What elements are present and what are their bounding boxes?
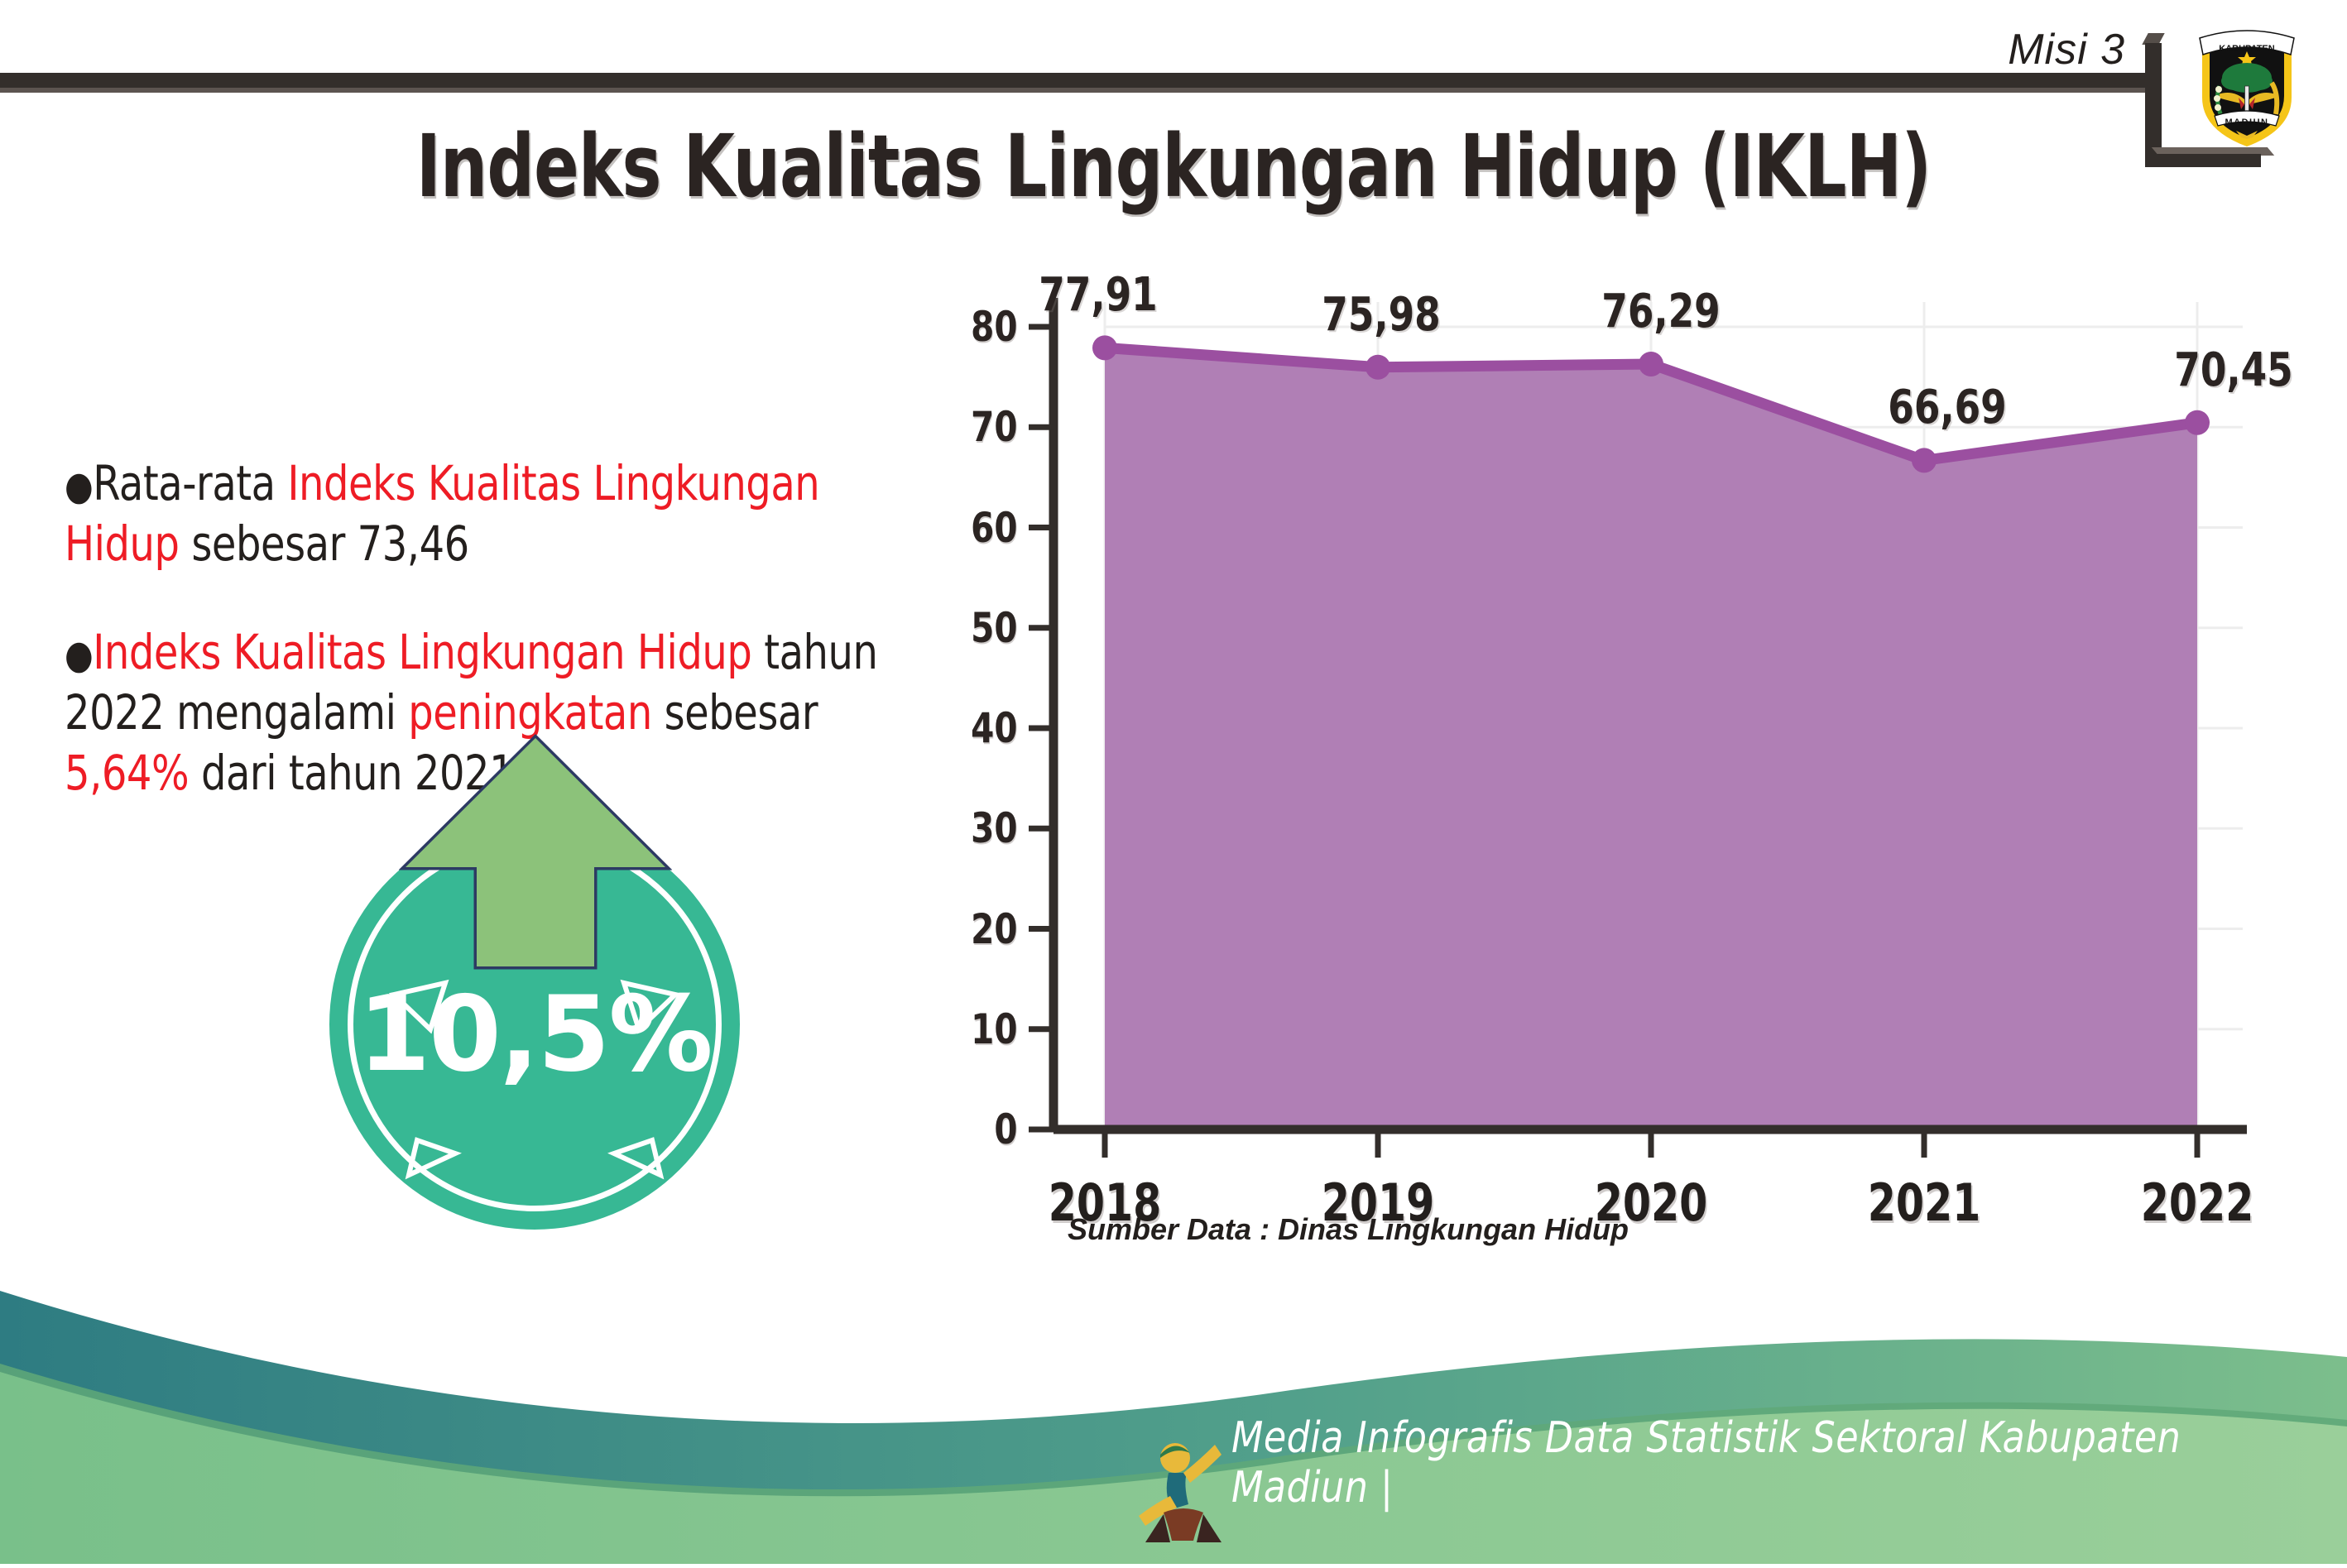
mission-label: Misi 3 — [2008, 25, 2125, 74]
chart-x-tick: 2021 — [1868, 1172, 1981, 1233]
chart-y-tick: 0 — [936, 1105, 1018, 1153]
chart-y-tick: 60 — [936, 504, 1018, 552]
highlight-2-seg-4: sebesar — [652, 684, 818, 741]
header-rule — [0, 73, 2160, 88]
highlight-2-seg-1: Indeks Kualitas Lingkungan Hidup — [93, 624, 751, 680]
chart-series-area — [1105, 348, 2197, 1129]
chart-data-label: 77,91 — [1039, 268, 1157, 322]
header-rule-shadow — [0, 88, 2160, 93]
chart-y-tick: 80 — [936, 303, 1018, 351]
logo-svg: KABUPATEN MADIUN — [2193, 18, 2301, 151]
highlight-1-seg-1: Rata-rata — [93, 455, 287, 511]
badge-value: 10,5% — [329, 973, 740, 1095]
bullet-dot-icon: ● — [65, 463, 93, 510]
increase-badge: 10,5% — [329, 819, 740, 1230]
highlight-1-seg-3: sebesar 73,46 — [180, 515, 469, 572]
chart-data-label: 70,45 — [2174, 343, 2292, 397]
footer-text: Media Infografis Data Statistik Sektoral… — [1231, 1413, 2292, 1513]
chart-y-tick: 40 — [936, 704, 1018, 752]
footer: Media Infografis Data Statistik Sektoral… — [0, 1266, 2347, 1564]
chart-data-label: 66,69 — [1888, 381, 2006, 434]
highlight-item-1: ●Rata-rata Indeks Kualitas Lingkungan Hi… — [65, 453, 895, 574]
chart-y-tick: 50 — [936, 604, 1018, 652]
bullet-dot-icon: ● — [65, 632, 93, 679]
iklh-area-chart: 01020304050607080 20182019202020212022 7… — [977, 298, 2251, 1175]
chart-y-tick: 70 — [936, 403, 1018, 451]
page-title: Indeks Kualitas Lingkungan Hidup (IKLH) — [165, 116, 2183, 217]
highlight-2-seg-5: 5,64% — [65, 745, 189, 801]
chart-data-label: 76,29 — [1601, 285, 1720, 338]
arrow-up-icon — [399, 733, 672, 1006]
chart-x-tick: 2022 — [2141, 1172, 2254, 1233]
media-infografis-logo-icon — [1135, 1436, 1233, 1546]
chart-y-tick: 20 — [936, 905, 1018, 953]
chart-y-tick: 10 — [936, 1005, 1018, 1053]
logo-bottom-text: MADIUN — [2225, 117, 2269, 127]
kabupaten-madiun-logo: KABUPATEN MADIUN — [2193, 18, 2301, 151]
chart-source-note: Sumber Data : Dinas Lingkungan Hidup — [1068, 1212, 1629, 1247]
chart-y-tick: 30 — [936, 804, 1018, 852]
chart-data-label: 75,98 — [1322, 288, 1440, 342]
chart-canvas — [977, 298, 2251, 1175]
